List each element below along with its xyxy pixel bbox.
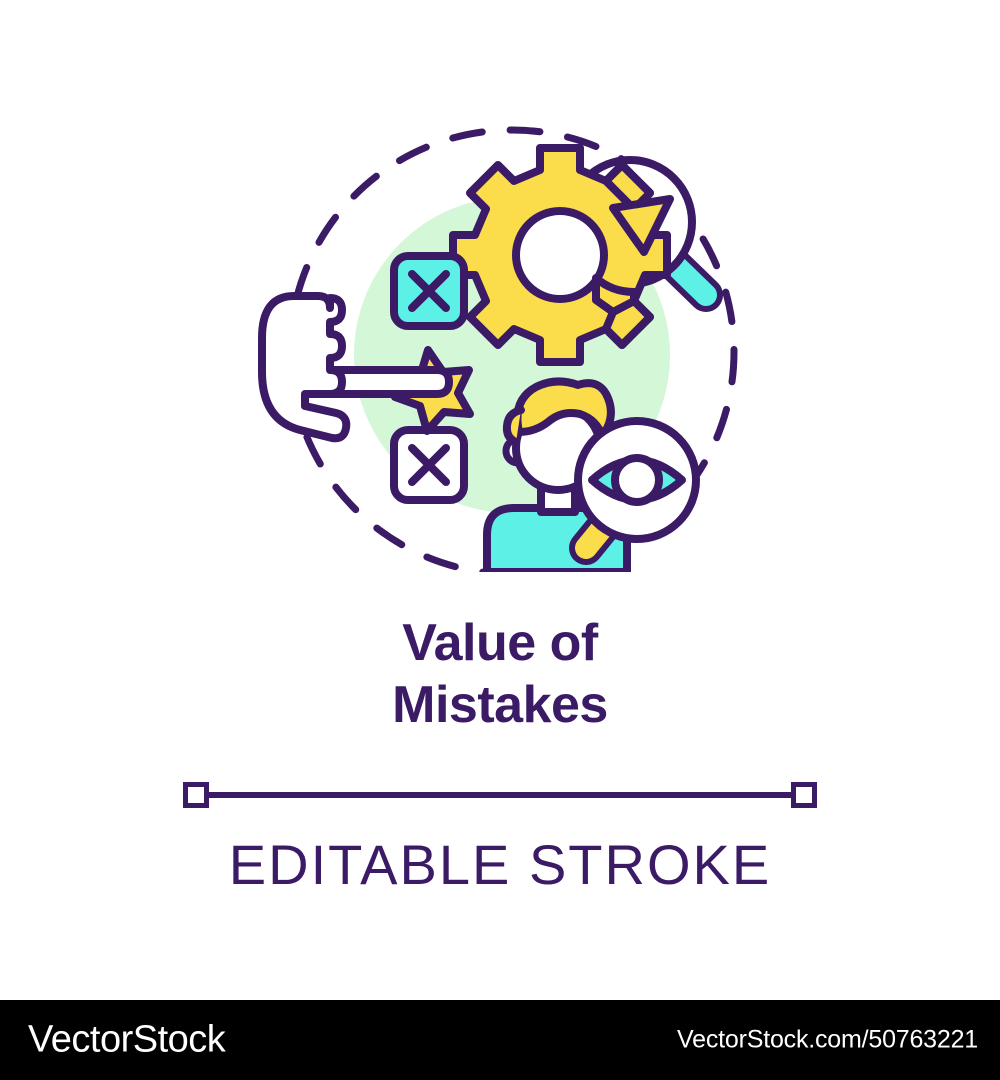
stroke-handle-left[interactable] bbox=[183, 782, 209, 808]
editable-stroke-block: EDITABLE STROKE bbox=[0, 770, 1000, 897]
illustration-area bbox=[0, 0, 1000, 600]
vectorstock-url: VectorStock.com/50763221 bbox=[677, 1026, 978, 1055]
vectorstock-logo: VectorStock bbox=[28, 1019, 225, 1062]
watermark-footer: VectorStock VectorStock.com/50763221 bbox=[0, 1000, 1000, 1080]
stroke-ruler bbox=[0, 770, 1000, 818]
magnifier-eye-icon bbox=[578, 421, 696, 548]
checkbox-x-cyan-icon bbox=[394, 256, 464, 326]
title-line-1: Value of bbox=[0, 612, 1000, 674]
checkbox-x-white-icon bbox=[394, 430, 464, 500]
concept-icon-page: Value of Mistakes EDITABLE STROKE Vector… bbox=[0, 0, 1000, 1080]
editable-stroke-label: EDITABLE STROKE bbox=[0, 832, 1000, 897]
stroke-line bbox=[198, 792, 802, 798]
title-line-2: Mistakes bbox=[0, 674, 1000, 736]
stroke-handle-right[interactable] bbox=[791, 782, 817, 808]
page-title: Value of Mistakes bbox=[0, 612, 1000, 736]
